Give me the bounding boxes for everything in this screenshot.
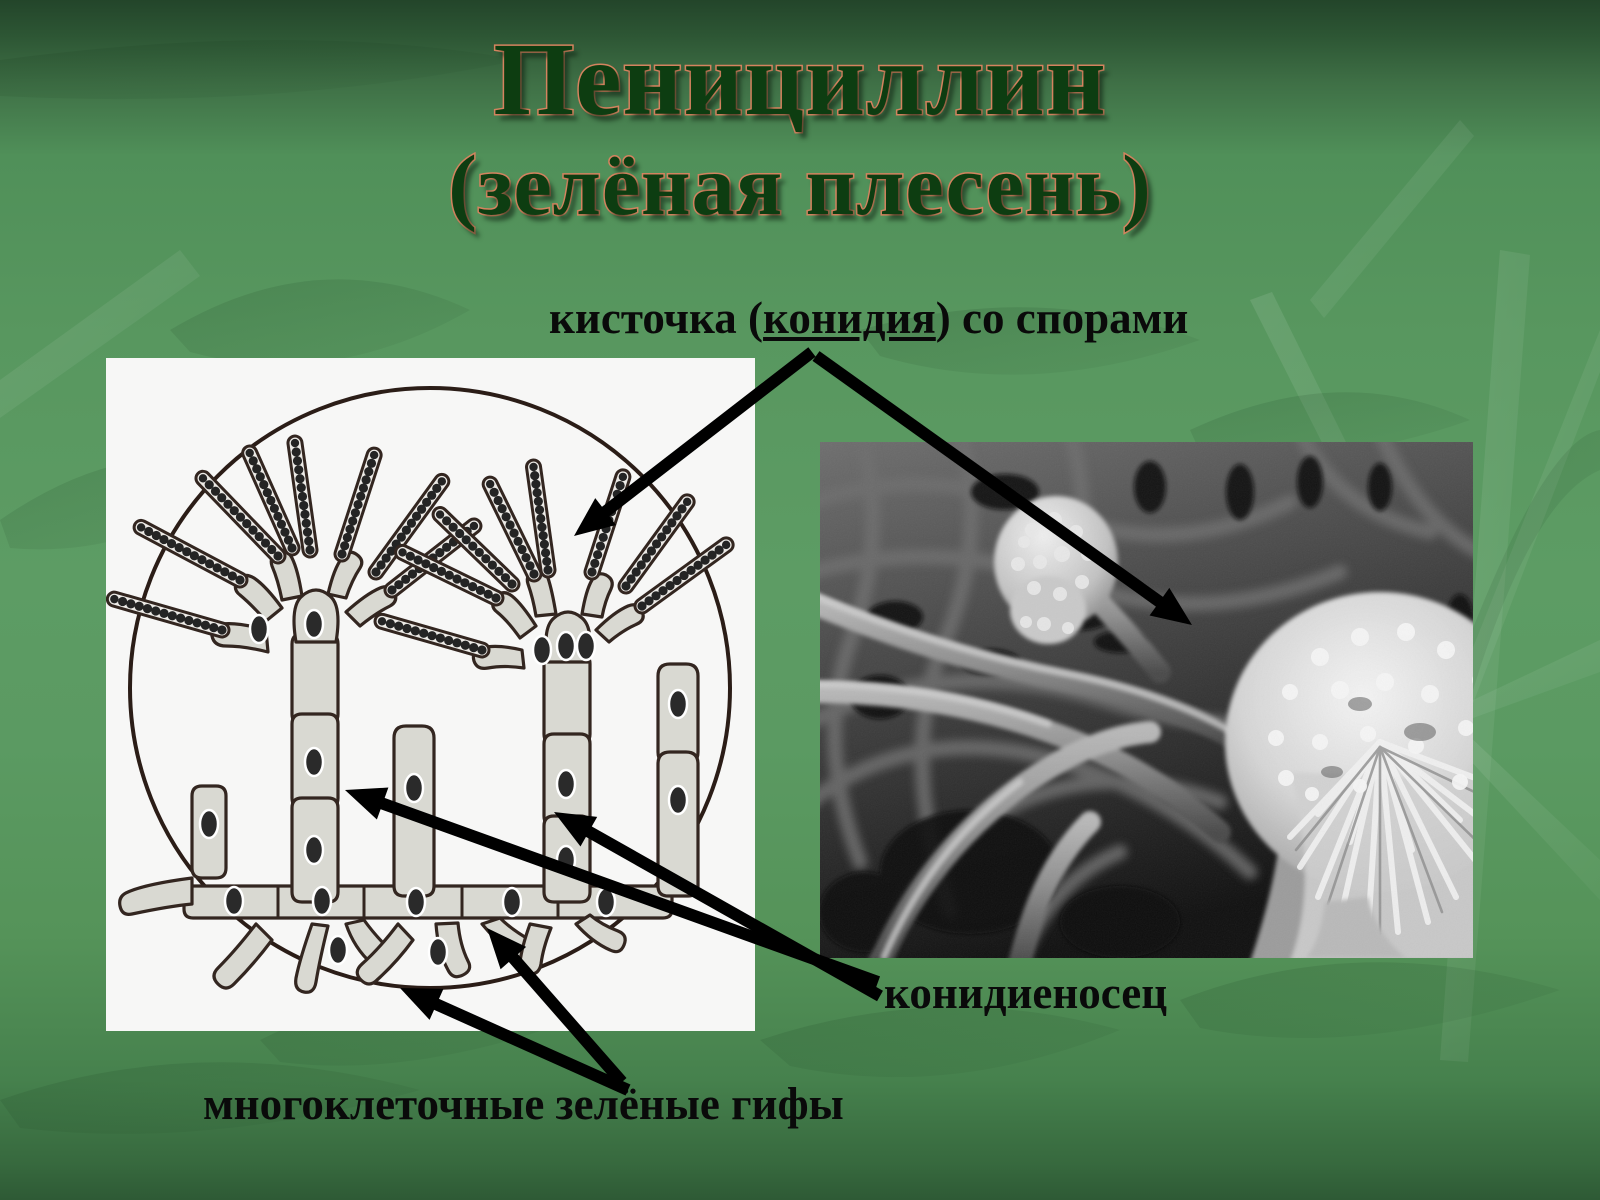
penicillium-schematic — [106, 358, 755, 1031]
schematic-diagram-panel — [106, 358, 755, 1031]
sem-micrograph-image — [820, 442, 1473, 958]
slide-root: Пенициллин (зелёная плесень) кисточка (к… — [0, 0, 1600, 1200]
label-conidia: кисточка (конидия) со спорами — [549, 292, 1188, 344]
upright-hypha-middle — [394, 726, 434, 896]
sem-micrograph — [820, 442, 1473, 958]
label-conidia-prefix: кисточка ( — [549, 293, 763, 343]
label-hyphae: многоклеточные зелёные гифы — [203, 1078, 844, 1130]
label-conidiophore: конидиеносец — [884, 967, 1167, 1019]
conidiophore-left-seg1 — [292, 634, 338, 724]
upright-hypha-right-seg2 — [658, 752, 698, 896]
label-conidia-suffix: ) со спорами — [936, 293, 1188, 343]
label-conidia-term: конидия — [763, 293, 936, 343]
conidiophore-right-seg1 — [544, 654, 590, 744]
